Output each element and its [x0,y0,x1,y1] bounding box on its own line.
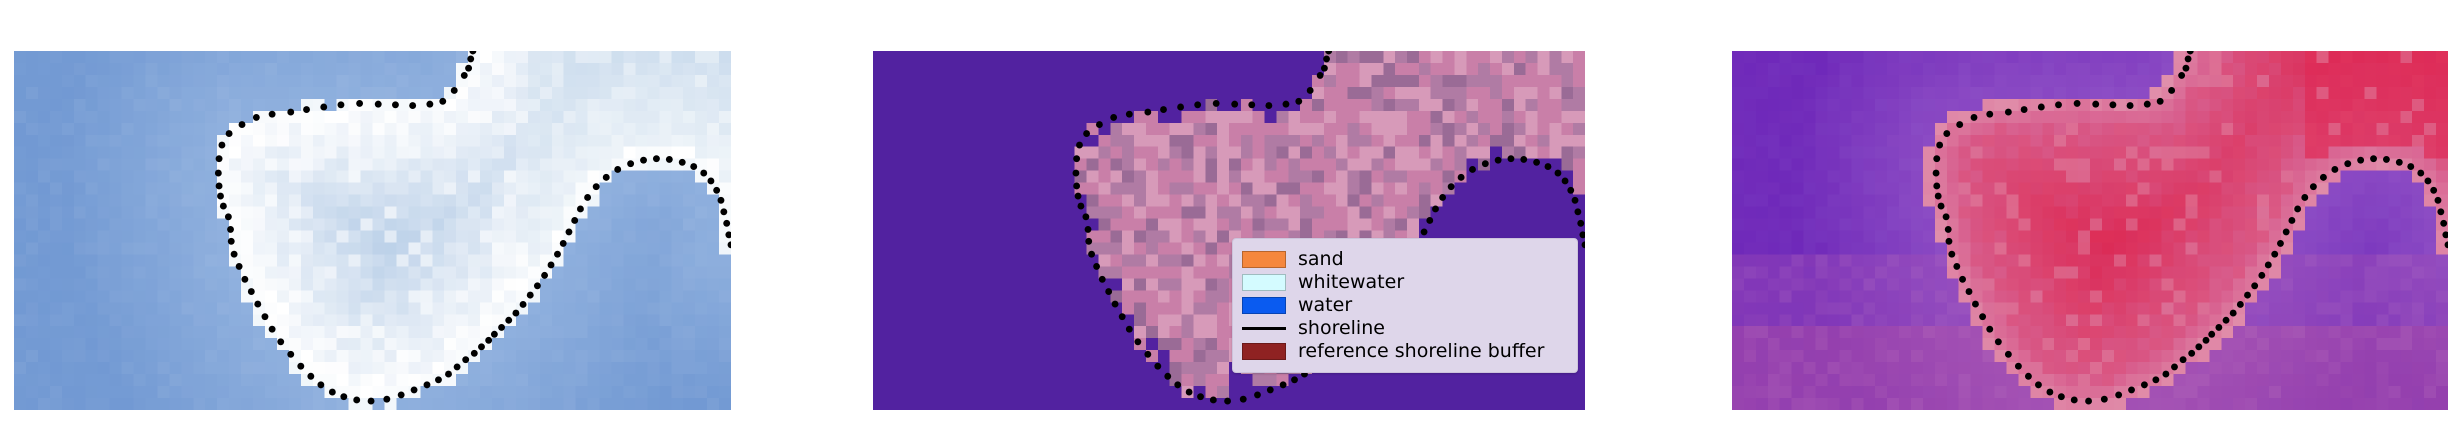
legend-label-shoreline: shoreline [1298,317,1385,340]
legend-label-sand: sand [1298,248,1344,271]
legend-item-shoreline[interactable]: shoreline [1242,317,1567,340]
legend-label-water: water [1298,294,1352,317]
sar-panel[interactable]: sar2404 [14,51,731,410]
shoreline-line-icon [1242,327,1286,330]
figure-canvas: sar2404 2014-11-26-10-00-09 sand whitewa… [0,0,2460,425]
landsat-panel[interactable]: L8 [1732,51,2448,410]
legend-label-reference-buffer: reference shoreline buffer [1298,340,1544,363]
map-legend[interactable]: sand whitewater water shoreline referenc… [1232,238,1578,373]
legend-item-water[interactable]: water [1242,294,1567,317]
landsat-raster-image [1732,51,2448,410]
classification-panel[interactable]: 2014-11-26-10-00-09 sand whitewater wate… [873,51,1585,410]
legend-label-whitewater: whitewater [1298,271,1404,294]
reference-buffer-swatch-icon [1242,343,1286,360]
whitewater-swatch-icon [1242,274,1286,291]
legend-item-whitewater[interactable]: whitewater [1242,271,1567,294]
sand-swatch-icon [1242,251,1286,268]
legend-item-reference-buffer[interactable]: reference shoreline buffer [1242,340,1567,363]
water-swatch-icon [1242,297,1286,314]
legend-item-sand[interactable]: sand [1242,248,1567,271]
sar-raster-image [14,51,731,410]
